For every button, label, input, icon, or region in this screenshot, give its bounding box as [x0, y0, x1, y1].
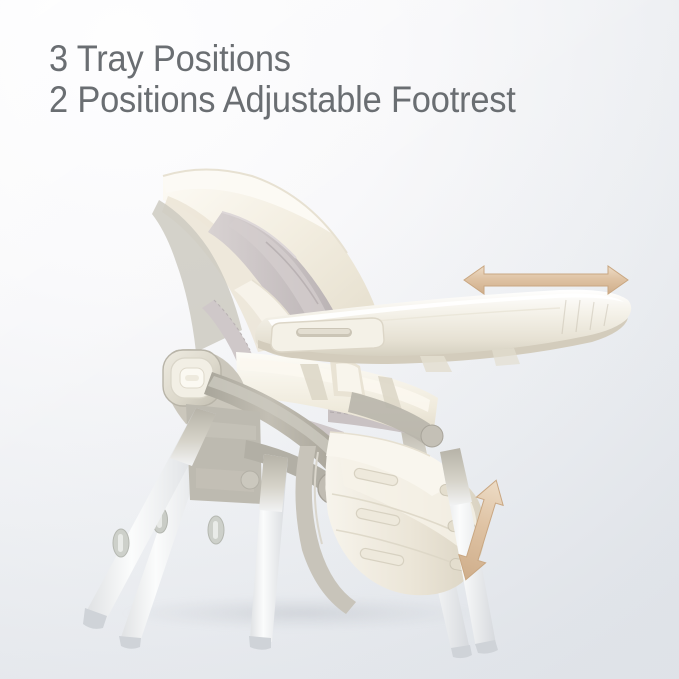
headline-line-2: 2 Positions Adjustable Footrest: [49, 79, 516, 120]
product-feature-image: 3 Tray Positions 2 Positions Adjustable …: [0, 0, 679, 679]
headline-line-1: 3 Tray Positions: [49, 38, 291, 79]
tray-handle[interactable]: [271, 318, 384, 352]
double-arrow-horizontal-icon: [462, 258, 630, 302]
page-title: 3 Tray Positions 2 Positions Adjustable …: [49, 38, 516, 120]
double-arrow-diagonal-icon: [446, 476, 516, 584]
